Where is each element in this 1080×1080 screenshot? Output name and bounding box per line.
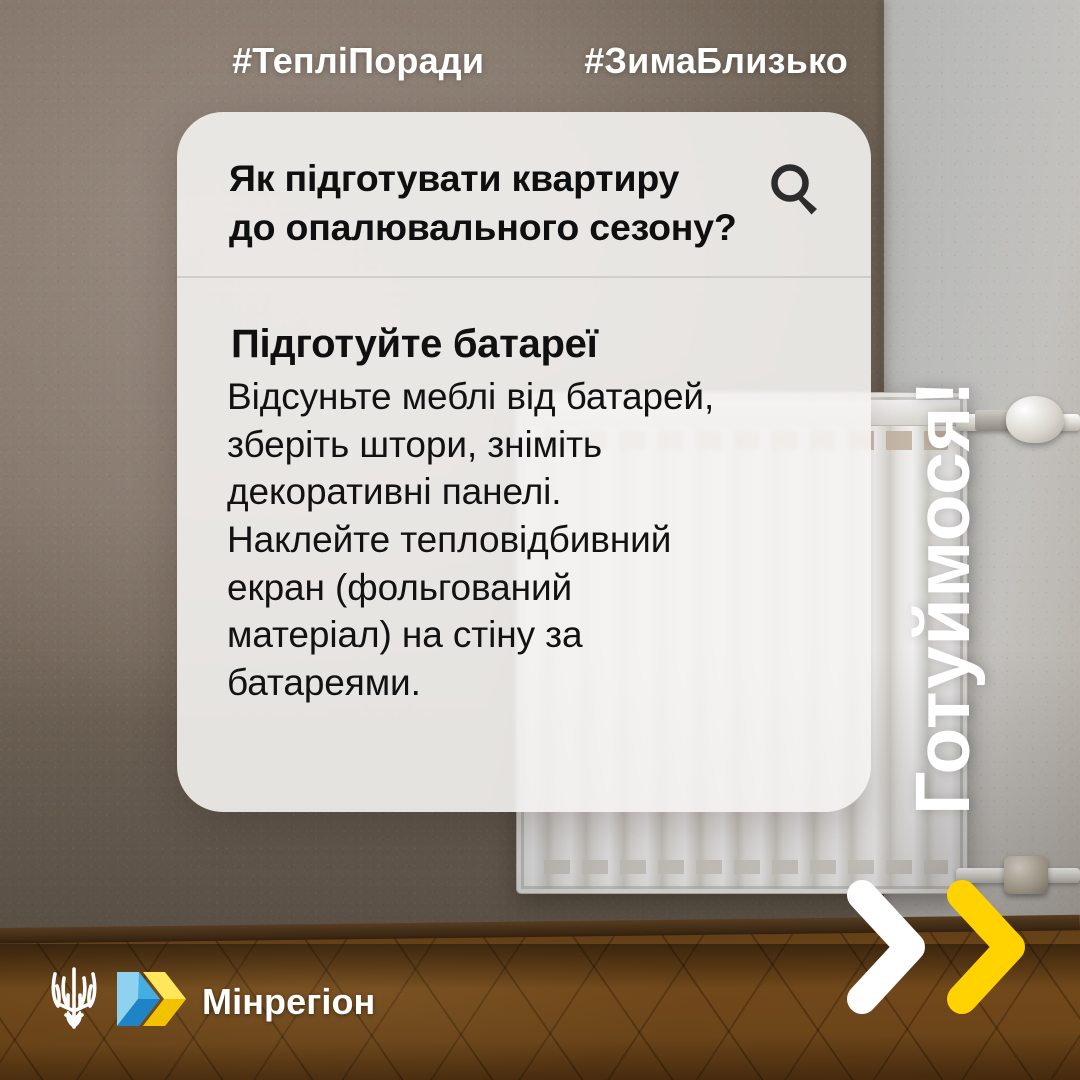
minregion-logo[interactable]: Мінрегіон	[48, 965, 375, 1038]
chevron-right-icon-accent[interactable]	[942, 877, 1034, 1022]
hashtag-teplo[interactable]: #ТепліПоради	[232, 40, 484, 82]
tip-card-body: Підготуйте батареї Відсуньте меблі від б…	[177, 278, 871, 707]
tip-heading: Підготуйте батареї	[231, 320, 831, 369]
tip-card: Як підготувати квартиру до опалювального…	[177, 112, 871, 812]
logo-wordmark: Мінрегіон	[202, 981, 375, 1023]
hashtag-winter[interactable]: #ЗимаБлизько	[584, 40, 848, 82]
poster-canvas: #ТепліПоради #ЗимаБлизько Як підготувати…	[0, 0, 1080, 1080]
vertical-slogan: Готуймося!	[905, 105, 982, 815]
card-question-title: Як підготувати квартиру до опалювального…	[229, 154, 737, 252]
hashtag-row: #ТепліПоради #ЗимаБлизько	[0, 40, 1080, 82]
tip-card-header: Як підготувати квартиру до опалювального…	[177, 112, 871, 278]
double-chevron-icon	[113, 968, 189, 1035]
radiator-valve-top	[1006, 396, 1064, 443]
next-slide-control[interactable]	[842, 877, 1034, 1022]
search-icon[interactable]	[765, 160, 827, 227]
ukraine-trident-icon	[48, 965, 100, 1038]
tip-paragraph: Відсуньте меблі від батарей, зберіть што…	[227, 373, 831, 707]
chevron-right-icon[interactable]	[842, 877, 934, 1022]
